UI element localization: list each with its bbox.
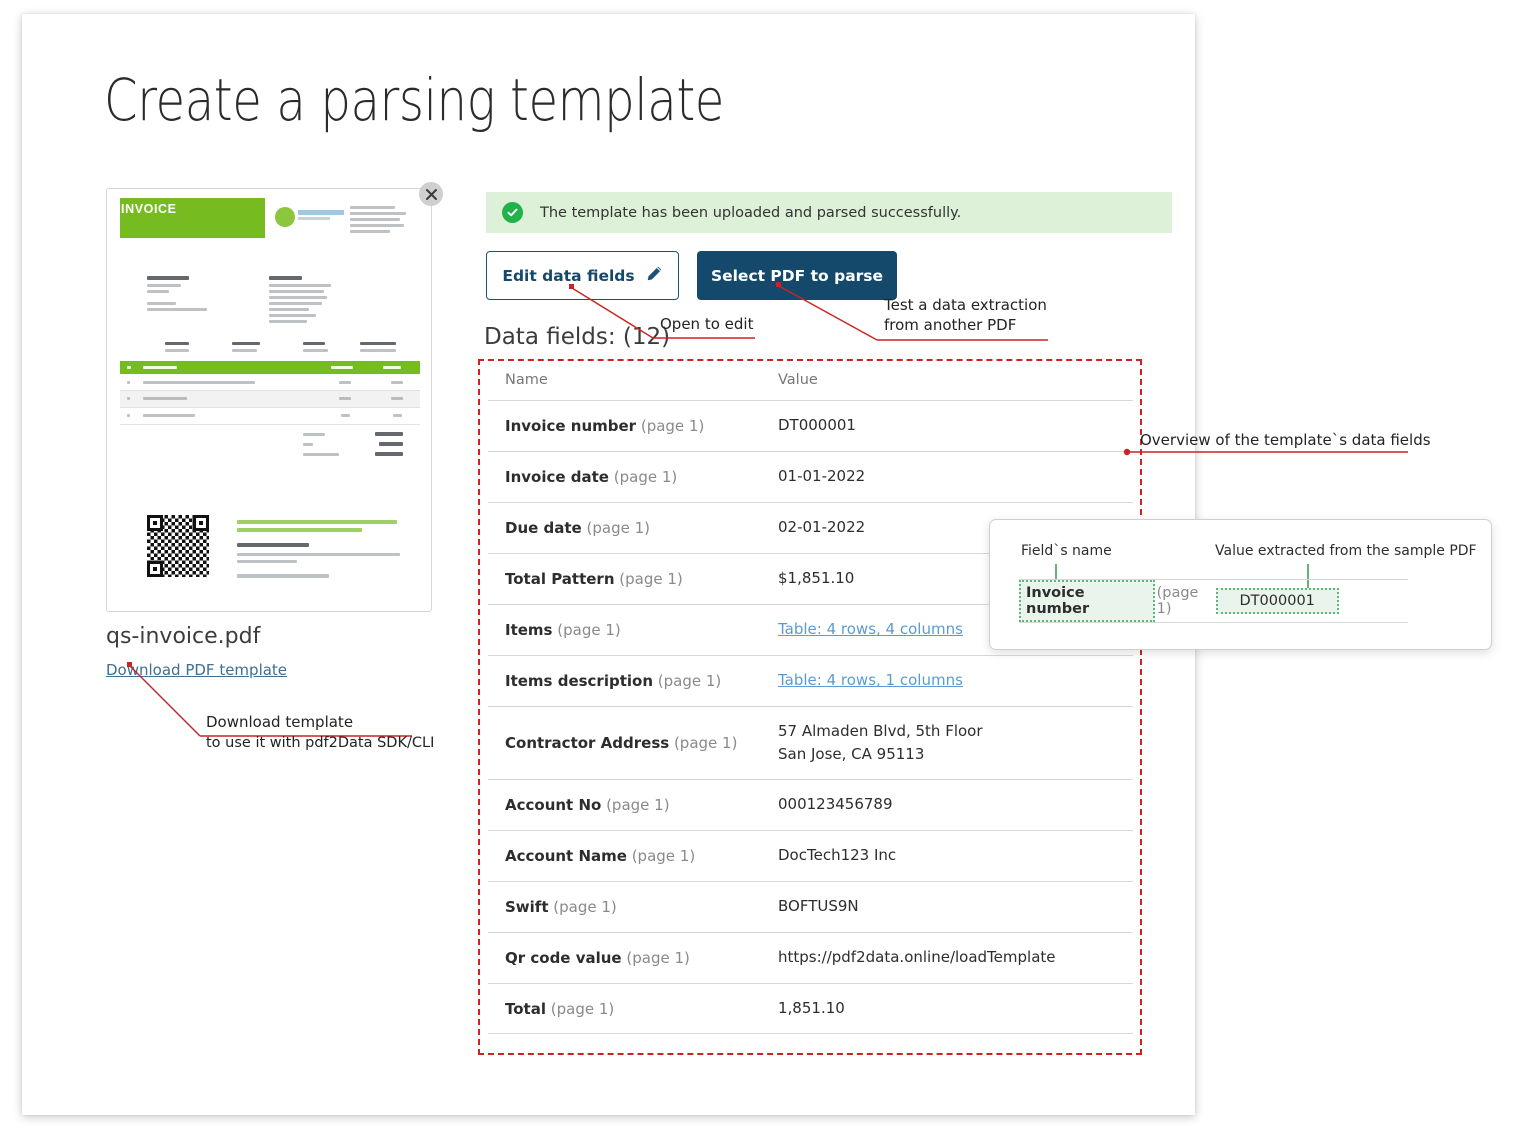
table-row: Invoice date (page 1)01-01-2022 (488, 451, 1133, 502)
field-name-cell: Invoice date (page 1) (488, 468, 778, 486)
field-page: (page 1) (615, 570, 683, 588)
field-name-cell: Swift (page 1) (488, 898, 778, 916)
invoice-table-col (127, 366, 131, 369)
field-page: (page 1) (627, 847, 695, 865)
table-row: Qr code value (page 1)https://pdf2data.o… (488, 932, 1133, 983)
invoice-logo-icon (275, 207, 295, 227)
field-explanation-popup: Field`s name Value extracted from the sa… (989, 519, 1492, 650)
field-value-cell: BOFTUS9N (778, 895, 1133, 918)
field-name: Invoice number (505, 417, 636, 435)
field-value-cell: 57 Almaden Blvd, 5th FloorSan Jose, CA 9… (778, 720, 1133, 767)
invoice-text-line (350, 206, 395, 209)
field-name-cell: Items (page 1) (488, 621, 778, 639)
field-name: Items (505, 621, 552, 639)
invoice-text-line (269, 314, 316, 317)
popup-field-value-highlight: DT000001 (1216, 588, 1339, 614)
table-row: Swift (page 1)BOFTUS9N (488, 881, 1133, 932)
popup-field-page: (page 1) (1157, 585, 1216, 617)
success-banner: The template has been uploaded and parse… (486, 192, 1172, 233)
invoice-row-divider (120, 424, 420, 425)
invoice-footer-line (237, 520, 397, 524)
field-name-cell: Qr code value (page 1) (488, 949, 778, 967)
invoice-text-line (375, 452, 403, 456)
field-name-cell: Total (page 1) (488, 1000, 778, 1018)
field-value-cell[interactable]: Table: 4 rows, 1 columns (778, 669, 1133, 692)
field-value-link[interactable]: Table: 4 rows, 1 columns (778, 671, 963, 689)
invoice-text-line (341, 414, 350, 417)
field-page: (page 1) (546, 1000, 614, 1018)
invoice-text-line (360, 342, 396, 345)
field-name: Total (505, 1000, 546, 1018)
invoice-text-line (303, 433, 325, 436)
table-row: Contractor Address (page 1)57 Almaden Bl… (488, 706, 1133, 779)
invoice-qr-code (147, 515, 209, 577)
field-page: (page 1) (549, 898, 617, 916)
field-page: (page 1) (636, 417, 704, 435)
invoice-logo-text (298, 210, 344, 215)
field-name: Total Pattern (505, 570, 615, 588)
table-row: Invoice number (page 1)DT000001 (488, 400, 1133, 451)
invoice-text-line (147, 290, 169, 293)
invoice-text-line (127, 414, 130, 417)
invoice-text-line (147, 276, 189, 280)
invoice-text-line (339, 381, 351, 384)
invoice-text-line (303, 443, 313, 446)
table-row: Account Name (page 1)DocTech123 Inc (488, 830, 1133, 881)
invoice-row-divider (120, 407, 420, 408)
popup-rule-bottom (1019, 622, 1408, 623)
field-name-cell: Invoice number (page 1) (488, 417, 778, 435)
invoice-text-line (391, 381, 403, 384)
select-pdf-to-parse-label: Select PDF to parse (711, 267, 883, 285)
invoice-text-line (303, 453, 339, 456)
field-value-cell: DocTech123 Inc (778, 844, 1133, 867)
invoice-logo-subtext (298, 217, 330, 220)
data-fields-heading: Data fields: (12) (484, 324, 670, 350)
edit-data-fields-button[interactable]: Edit data fields (486, 251, 679, 300)
field-name-cell: Contractor Address (page 1) (488, 734, 778, 752)
invoice-text-line (391, 397, 403, 400)
invoice-text-line (303, 342, 325, 345)
field-name: Due date (505, 519, 582, 537)
field-page: (page 1) (582, 519, 650, 537)
invoice-header-label: INVOICE (121, 202, 177, 216)
annotation-test-extraction-line1: Test a data extraction (884, 296, 1047, 314)
invoice-text-line (147, 308, 207, 311)
invoice-text-line (269, 284, 331, 287)
data-fields-table: Name Value Invoice number (page 1)DT0000… (488, 366, 1133, 1034)
invoice-text-line (339, 397, 351, 400)
field-name: Swift (505, 898, 549, 916)
invoice-text-line (269, 320, 307, 323)
field-page: (page 1) (669, 734, 737, 752)
field-name: Account Name (505, 847, 627, 865)
field-name: Items description (505, 672, 653, 690)
success-banner-text: The template has been uploaded and parse… (540, 205, 961, 221)
pdf-preview-thumbnail[interactable]: INVOICE (106, 188, 432, 612)
annotation-download-line1: Download template (206, 713, 353, 731)
invoice-text-line (143, 397, 187, 400)
invoice-text-line (269, 290, 324, 293)
invoice-text-line (269, 296, 327, 299)
invoice-text-line (143, 414, 195, 417)
invoice-text-line (375, 432, 403, 436)
invoice-footer-line (237, 553, 400, 556)
invoice-text-line (165, 349, 189, 352)
field-value-cell: https://pdf2data.online/loadTemplate (778, 946, 1133, 969)
annotation-download-line2: to use it with pdf2Data SDK/CLI (206, 735, 434, 751)
invoice-text-line (393, 414, 402, 417)
invoice-text-line (269, 308, 309, 311)
edit-data-fields-label: Edit data fields (502, 267, 634, 285)
table-row: Account No (page 1)000123456789 (488, 779, 1133, 830)
page-title: Create a parsing template (104, 66, 724, 134)
invoice-text-line (147, 284, 181, 287)
popup-label-field-value: Value extracted from the sample PDF (1215, 543, 1477, 559)
field-value-cell: 01-01-2022 (778, 465, 1133, 488)
field-value-link[interactable]: Table: 4 rows, 4 columns (778, 620, 963, 638)
pencil-icon (646, 265, 663, 286)
field-name: Invoice date (505, 468, 609, 486)
table-header-row: Name Value (488, 366, 1133, 400)
field-page: (page 1) (622, 949, 690, 967)
field-name-cell: Items description (page 1) (488, 672, 778, 690)
popup-field-name-highlight: Invoice number (1019, 580, 1155, 622)
pdf-filename: qs-invoice.pdf (106, 624, 260, 649)
invoice-footer-line (237, 560, 297, 563)
invoice-text-line (232, 342, 260, 345)
invoice-text-line (303, 349, 328, 352)
invoice-text-line (127, 397, 130, 400)
invoice-text-line (143, 381, 255, 384)
invoice-text-line (350, 230, 390, 233)
invoice-text-line (269, 276, 302, 280)
field-name-cell: Total Pattern (page 1) (488, 570, 778, 588)
field-page: (page 1) (552, 621, 620, 639)
annotation-overview: Overview of the template`s data fields (1140, 431, 1431, 449)
field-page: (page 1) (609, 468, 677, 486)
annotation-open-to-edit: Open to edit (660, 315, 753, 333)
invoice-text-line (350, 218, 400, 221)
field-name: Qr code value (505, 949, 622, 967)
field-value-cell: 1,851.10 (778, 997, 1133, 1020)
column-header-value: Value (778, 372, 1133, 388)
invoice-text-line (127, 381, 130, 384)
field-name: Account No (505, 796, 601, 814)
close-icon[interactable] (419, 182, 443, 206)
invoice-footer-line (237, 574, 329, 578)
column-header-name: Name (488, 372, 778, 388)
table-body: Invoice number (page 1)DT000001Invoice d… (488, 400, 1133, 1034)
invoice-footer-line (237, 543, 309, 547)
annotation-test-extraction-line2: from another PDF (884, 316, 1016, 334)
invoice-table-col (331, 366, 353, 369)
field-page: (page 1) (601, 796, 669, 814)
invoice-text-line (232, 349, 257, 352)
pdf-preview-content: INVOICE (107, 189, 431, 611)
check-circle-icon (502, 202, 523, 223)
invoice-text-line (350, 212, 406, 215)
field-value-cell: 000123456789 (778, 793, 1133, 816)
popup-label-field-name: Field`s name (1021, 543, 1112, 559)
table-row: Total (page 1)1,851.10 (488, 983, 1133, 1034)
invoice-text-line (350, 224, 404, 227)
field-page: (page 1) (653, 672, 721, 690)
screenshot-root: Create a parsing template INVOICE (0, 0, 1514, 1142)
invoice-text-line (379, 442, 403, 446)
invoice-text-line (165, 342, 189, 345)
select-pdf-to-parse-button[interactable]: Select PDF to parse (697, 251, 897, 300)
popup-example-row: Invoice number (page 1) DT000001 (1019, 582, 1408, 620)
download-pdf-template-link[interactable]: Download PDF template (106, 661, 287, 679)
table-row: Items description (page 1)Table: 4 rows,… (488, 655, 1133, 706)
field-value-cell: DT000001 (778, 414, 1133, 437)
invoice-text-line (269, 302, 322, 305)
invoice-table-col (383, 366, 401, 369)
field-name-cell: Account Name (page 1) (488, 847, 778, 865)
field-name-cell: Due date (page 1) (488, 519, 778, 537)
invoice-text-line (360, 349, 396, 352)
field-name: Contractor Address (505, 734, 669, 752)
invoice-footer-line (237, 528, 362, 532)
invoice-text-line (147, 302, 176, 305)
field-name-cell: Account No (page 1) (488, 796, 778, 814)
invoice-table-col (143, 366, 177, 369)
